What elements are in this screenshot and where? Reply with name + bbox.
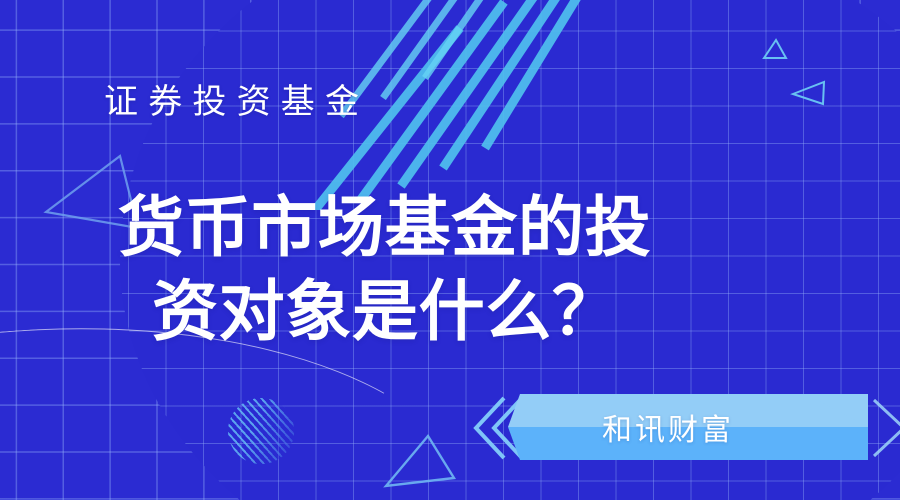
brand-banner[interactable]: 和讯财富 bbox=[470, 394, 900, 462]
poster-canvas: 和讯财富 证券投资基金 货币市场基金的投 资对象是什么？ bbox=[0, 0, 900, 500]
brand-banner-shape: 和讯财富 bbox=[508, 394, 868, 460]
chevron-right-outline-icon bbox=[868, 398, 900, 463]
triangle-outline-top-right-icon bbox=[760, 36, 790, 62]
brand-banner-label: 和讯财富 bbox=[508, 394, 828, 460]
hatched-circle-icon bbox=[228, 398, 294, 464]
poster-title-line-2: 资对象是什么？ bbox=[118, 270, 778, 354]
poster-subtitle: 证券投资基金 bbox=[104, 74, 369, 123]
triangle-outline-right-icon bbox=[790, 78, 830, 108]
poster-title: 货币市场基金的投 资对象是什么？ bbox=[118, 186, 778, 355]
triangle-outline-bottom-icon bbox=[382, 428, 474, 492]
poster-title-line-1: 货币市场基金的投 bbox=[118, 189, 651, 266]
